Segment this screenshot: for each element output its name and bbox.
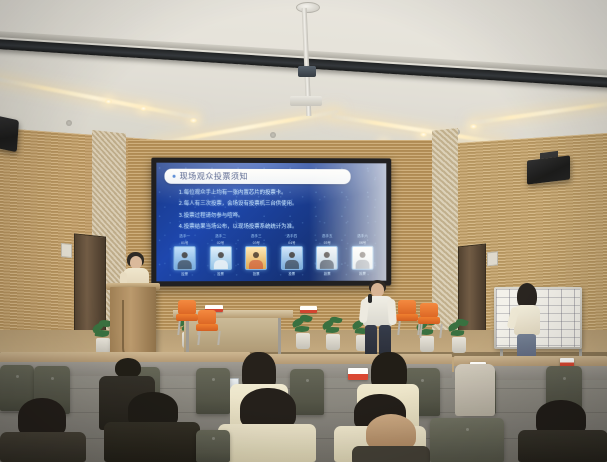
candidate-card[interactable]: 选手二 02号 投票 (206, 234, 234, 276)
planter (420, 336, 434, 352)
planter (296, 333, 310, 349)
downlight (140, 106, 147, 111)
audience-foreground-right (518, 400, 607, 462)
candidate-vote-label: 投票 (217, 271, 224, 276)
judge-name-card (300, 306, 317, 313)
candidate-team: 选手四 (286, 234, 297, 239)
candidate-team: 选手二 (215, 234, 226, 239)
candidate-number: 04号 (288, 240, 295, 245)
potted-plant (446, 317, 472, 339)
microphone-icon (368, 294, 372, 303)
presenter-arm-right (387, 299, 397, 325)
ceiling-projector (290, 96, 322, 106)
screen-hotspot (156, 163, 386, 216)
downlight (420, 132, 427, 137)
candidate-card[interactable]: 选手四 04号 投票 (278, 234, 306, 276)
ceiling-sensor-icon (66, 120, 72, 126)
candidate-team: 选手一 (179, 234, 190, 239)
downlight (105, 99, 112, 104)
audience-chair-foreground[interactable] (196, 430, 230, 462)
downlight (190, 118, 197, 123)
ceiling-sensor-icon (270, 132, 276, 138)
projector-ceiling-mount (296, 2, 320, 13)
candidate-number: 03号 (253, 240, 260, 245)
candidate-vote-label: 投票 (181, 271, 188, 276)
door-sign-icon (61, 243, 72, 258)
planter (326, 334, 340, 350)
projection-screen[interactable]: 现场观众投票须知 1.每位观众手上均有一张内置芯片的投票卡。 2.每人有三次投票… (151, 158, 391, 287)
potted-plant (290, 313, 316, 335)
candidate-photo (245, 246, 267, 270)
audience-foreground-black-shirt (104, 392, 200, 462)
candidate-team: 选手三 (251, 234, 262, 239)
cove-light-strip (0, 76, 198, 120)
candidate-photo (209, 246, 231, 270)
candidate-photo (281, 246, 303, 270)
presenter-speaker (358, 280, 398, 362)
audience-member-side-right (455, 356, 495, 416)
candidate-card[interactable]: 选手三 03号 投票 (242, 234, 270, 276)
conference-room-photo: 现场观众投票须知 1.每位观众手上均有一张内置芯片的投票卡。 2.每人有三次投票… (0, 0, 607, 462)
audience-chair-foreground[interactable] (430, 418, 504, 462)
presenter-head (371, 283, 384, 297)
potted-plant (320, 314, 346, 336)
wall-speaker-left-icon (0, 116, 19, 153)
candidate-vote-label: 投票 (253, 271, 260, 276)
door-sign-icon (487, 251, 498, 266)
candidate-card[interactable]: 选手一 01号 投票 (171, 234, 199, 276)
candidate-number: 02号 (217, 240, 224, 245)
audience-foreground-left (0, 398, 86, 462)
candidate-number: 01号 (181, 240, 188, 245)
cove-light-strip (471, 99, 607, 125)
audience-foreground-cream-top (218, 388, 316, 462)
audience-foreground-bald-man (352, 414, 430, 462)
table-leg (278, 318, 281, 356)
candidate-photo (174, 246, 196, 270)
slide-surface: 现场观众投票须知 1.每位观众手上均有一张内置芯片的投票卡。 2.每人有三次投票… (156, 163, 386, 282)
downlight (470, 124, 477, 129)
scorekeeper-at-whiteboard (511, 283, 543, 363)
candidate-vote-label: 投票 (288, 271, 295, 276)
projector-bracket (298, 66, 316, 77)
planter (452, 337, 466, 353)
